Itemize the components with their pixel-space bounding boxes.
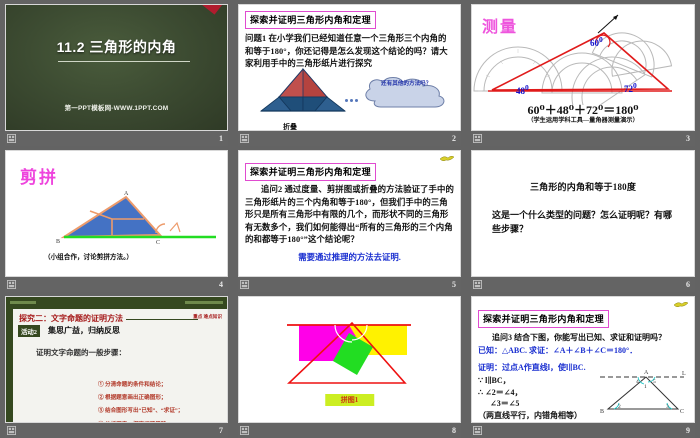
slide-6-footer: 6 (471, 277, 695, 292)
angle-label-a: 600 (590, 35, 603, 48)
svg-text:A: A (644, 370, 649, 376)
slide-2-figure-caption: 折叠 (283, 122, 297, 131)
slide-cell-5[interactable]: 探索并证明三角形内角和定理 追问2 通过度量、剪拼图或折叠的方法验证了手中的三角… (233, 146, 466, 292)
slide-2-body: 在小学我们已经知道任意一个三角形三个内角的和等于180°，你还记得是怎么发现这个… (245, 34, 448, 68)
svg-text:L: L (682, 371, 686, 377)
topbar-accent-right (185, 301, 223, 304)
folding-triangle-figure (257, 67, 349, 119)
slide-9-page-number: 9 (686, 427, 690, 435)
slide-cell-2[interactable]: 探索并证明三角形内角和定理 问题1 在小学我们已经知道任意一个三角形三个内角的和… (233, 0, 466, 146)
slide-7-topbar (6, 297, 227, 309)
slide-1-canvas[interactable]: 11.2 三角形的内角 第一PPT模板网-WWW.1PPT.COM (5, 4, 228, 131)
proof-head: 过点A作直线l，使l∥BC. (502, 363, 586, 372)
svg-text:A: A (124, 191, 129, 197)
slide-2-question-label: 问题1 (245, 34, 266, 43)
given-label: 已知： (478, 346, 502, 355)
dot-leader (345, 89, 360, 107)
slide-4-footer: 4 (5, 277, 228, 292)
slide-4-canvas[interactable]: 剪拼 A B C （小组合作，讨论剪拼方法。） (5, 150, 228, 277)
slide-9-question-body: 结合下图，你能写出已知、求证和证明吗？ (514, 333, 666, 342)
slide-2-title: 探索并证明三角形内角和定理 (245, 11, 376, 29)
cloud-text: 还有其他的方法吗？ (381, 81, 439, 88)
angle-label-b: 480 (516, 83, 529, 96)
slide-thumbnail-grid: 11.2 三角形的内角 第一PPT模板网-WWW.1PPT.COM 1 探索并证… (0, 0, 700, 438)
angle-label-c: 720 (624, 81, 637, 94)
slide-7-steps: ① 分清命题的条件和结论； ② 根据题意画出正确图形； ③ 结合图形写出“已知”… (58, 379, 219, 423)
slide-9-question-label: 追问3 (492, 333, 512, 342)
proof-triangle-figure: A L B C 4 5 1 2 3 (598, 369, 690, 417)
slide-1-page-number: 1 (219, 135, 223, 143)
slide-cell-1[interactable]: 11.2 三角形的内角 第一PPT模板网-WWW.1PPT.COM 1 (0, 0, 233, 146)
slide-7-footer: 7 (5, 423, 228, 438)
slide-4-caption: （小组合作，讨论剪拼方法。） (44, 251, 133, 261)
slide-5-footer: 5 (238, 277, 461, 292)
slide-icon (240, 134, 249, 143)
title-rule (126, 319, 198, 320)
slide-cell-4[interactable]: 剪拼 A B C （小组合作，讨论剪拼方法。） 4 (0, 146, 233, 292)
slide-5-question-label: 追问2 (261, 185, 282, 194)
bird-icon (440, 155, 454, 162)
slide-5-conclusion: 需要通过推理的方法去证明. (245, 251, 454, 263)
red-corner-stripe (167, 4, 228, 15)
slide-3-footer: 3 (471, 131, 695, 146)
svg-text:4: 4 (636, 379, 639, 385)
slide-icon (240, 426, 249, 435)
slide-7-subtitle: 集思广益，归纳反思 (48, 325, 120, 336)
title-underline (58, 61, 190, 62)
slide-4-page-number: 4 (219, 281, 223, 289)
svg-text:B: B (56, 239, 60, 245)
slide-7-activity-badge: 活动2 (18, 325, 40, 337)
slide-cell-3[interactable]: 测量 480 720 600 60⁰＋48⁰＋72⁰＝180⁰ （学生运用学科工… (466, 0, 700, 146)
slide-icon (473, 280, 482, 289)
slide-cell-9[interactable]: 探索并证明三角形内角和定理 追问3 结合下图，你能写出已知、求证和证明吗？ 已知… (466, 292, 700, 438)
cut-paste-triangle-figure: A B C (20, 189, 220, 245)
slide-icon (7, 134, 16, 143)
slide-8-footer: 8 (238, 423, 461, 438)
slide-9-canvas[interactable]: 探索并证明三角形内角和定理 追问3 结合下图，你能写出已知、求证和证明吗？ 已知… (471, 296, 695, 423)
slide-7-leftbar (6, 309, 13, 422)
topbar-accent-left (10, 301, 36, 304)
slide-7-lead: 证明文字命题的一般步骤： (36, 347, 126, 358)
list-item: ② 根据题意画出正确图形； (98, 392, 219, 405)
slide-icon (473, 426, 482, 435)
slide-cell-8[interactable]: 拼图1 8 (233, 292, 466, 438)
slide-icon (7, 280, 16, 289)
slide-8-canvas[interactable]: 拼图1 (238, 296, 461, 423)
slide-7-corner-note: 重点 难点知识 (193, 314, 222, 320)
slide-8-page-number: 8 (452, 427, 456, 435)
slide-6-heading: 三角形的内角和等于180度 (472, 180, 694, 193)
svg-text:1: 1 (644, 384, 647, 390)
slide-3-canvas[interactable]: 测量 480 720 600 60⁰＋48⁰＋72⁰＝180⁰ （学生运用学科工… (471, 4, 695, 131)
slide-2-page-number: 2 (452, 135, 456, 143)
slide-7-page-number: 7 (219, 427, 223, 435)
slide-5-title: 探索并证明三角形内角和定理 (245, 163, 376, 181)
slide-1-title: 11.2 三角形的内角 (6, 37, 227, 57)
slide-8-label: 拼图1 (325, 394, 375, 406)
slide-6-question: 这是一个什么类型的问题？怎么证明呢？有哪些步骤？ (492, 208, 678, 236)
proof-label: 证明： (478, 363, 502, 372)
slide-3-title: 测量 (482, 13, 518, 37)
slide-6-page-number: 6 (686, 281, 690, 289)
slide-7-canvas[interactable]: 探究二：文字命题的证明方法 重点 难点知识 活动2 集思广益，归纳反思 证明文字… (5, 296, 228, 423)
slide-9-footer: 9 (471, 423, 695, 438)
slide-5-canvas[interactable]: 探索并证明三角形内角和定理 追问2 通过度量、剪拼图或折叠的方法验证了手中的三角… (238, 150, 461, 277)
svg-text:3: 3 (666, 404, 669, 410)
slide-3-note: （学生运用学科工具—量角器测量演示） (472, 115, 694, 124)
slide-icon (240, 280, 249, 289)
svg-text:2: 2 (618, 404, 621, 410)
svg-text:C: C (680, 409, 684, 415)
slide-1-subtitle: 第一PPT模板网-WWW.1PPT.COM (6, 102, 227, 112)
list-item: ④ 分析题意，探索证题思路； (98, 419, 219, 423)
list-item: ③ 结合图形写出“已知”、“求证”； (98, 405, 219, 418)
given-value: △ABC. (502, 346, 527, 355)
prove-value: ∠A＋∠B＋∠C＝180°． (553, 346, 637, 355)
slide-2-footer: 2 (238, 131, 461, 146)
slide-5-page-number: 5 (452, 281, 456, 289)
slide-6-canvas[interactable]: 三角形的内角和等于180度 这是一个什么类型的问题？怎么证明呢？有哪些步骤？ (471, 150, 695, 277)
slide-9-title: 探索并证明三角形内角和定理 (478, 310, 609, 328)
prove-label: 求证： (529, 346, 553, 355)
bird-icon (674, 301, 688, 308)
slide-icon (473, 134, 482, 143)
tangram-triangle-figure (287, 315, 417, 395)
svg-text:B: B (600, 409, 604, 415)
list-item: ① 分清命题的条件和结论； (98, 379, 219, 392)
svg-text:C: C (156, 240, 160, 245)
slide-3-page-number: 3 (686, 135, 690, 143)
slide-1-footer: 1 (5, 131, 228, 146)
slide-cell-6[interactable]: 三角形的内角和等于180度 这是一个什么类型的问题？怎么证明呢？有哪些步骤？ 6 (466, 146, 700, 292)
svg-text:5: 5 (653, 379, 656, 385)
slide-2-canvas[interactable]: 探索并证明三角形内角和定理 问题1 在小学我们已经知道任意一个三角形三个内角的和… (238, 4, 461, 131)
slide-cell-7[interactable]: 探究二：文字命题的证明方法 重点 难点知识 活动2 集思广益，归纳反思 证明文字… (0, 292, 233, 438)
slide-7-title: 探究二：文字命题的证明方法 (19, 313, 123, 324)
slide-icon (7, 426, 16, 435)
slide-4-title: 剪拼 (20, 163, 58, 188)
